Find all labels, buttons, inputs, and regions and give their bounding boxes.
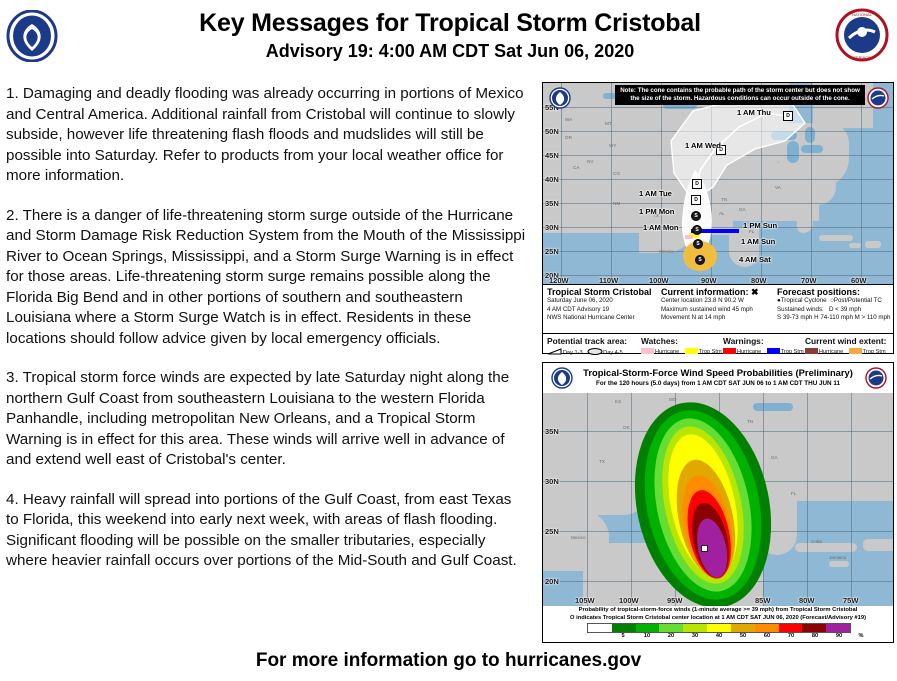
forecast-position-4am-sat: S	[695, 255, 705, 265]
warning-tropstm-label: Trop Stm	[781, 349, 804, 355]
colorbar-tick: 5	[621, 633, 624, 639]
footer-link-text[interactable]: For more information go to hurricanes.go…	[0, 650, 897, 672]
watch-hurricane-label: Hurricane	[655, 349, 679, 355]
current-info-heading: Current information: ✖	[661, 288, 779, 296]
key-message-4: 4. Heavy rainfall will spread into porti…	[6, 490, 526, 572]
svg-text:SERVICE: SERVICE	[853, 55, 871, 60]
cone-disclaimer-note: Note: The cone contains the probable pat…	[615, 85, 865, 105]
track-label-1am-mon: 1 AM Mon	[643, 223, 679, 232]
legend-tropical-cyclone: Tropical Cyclone	[781, 297, 827, 304]
colorbar-tick: 40	[716, 633, 722, 639]
colorbar-tick: 30	[692, 633, 698, 639]
colorbar-swatch-30	[683, 624, 707, 632]
forecast-position-1pm-mon: D	[691, 195, 701, 205]
probability-map[interactable]: 35N 30N 25N 20N 105W 100W 95W 90W 85W 80…	[543, 393, 893, 606]
track-label-1am-sun: 1 AM Sun	[741, 237, 775, 246]
track-label-1pm-sun: 1 PM Sun	[743, 221, 777, 230]
advisory-subtitle: Advisory 19: 4:00 AM CDT Sat Jun 06, 202…	[70, 39, 830, 63]
colorbar-tick: 50	[740, 633, 746, 639]
noaa-logo: NOAA	[6, 10, 58, 62]
wind-probability-panel[interactable]: Tropical-Storm-Force Wind Speed Probabil…	[542, 362, 894, 643]
colorbar-swatch-40	[707, 624, 731, 632]
prob-foot-line-2: O indicates Tropical Storm Cristobal cen…	[543, 615, 893, 623]
track-label-1am-tue: 1 AM Tue	[639, 189, 672, 198]
day13-label: Day 1-3	[563, 350, 583, 356]
wind-scale-row: S 39-73 mph H 74-110 mph M > 110 mph	[777, 314, 895, 322]
key-messages-list: 1. Damaging and deadly flooding was alre…	[6, 84, 526, 591]
colorbar-swatch-70	[779, 624, 803, 632]
potential-track-area-heading: Potential track area:	[547, 336, 627, 346]
forecast-position-1pm-sun: S	[692, 225, 702, 235]
warning-hurricane-swatch	[723, 348, 736, 354]
warnings-heading: Warnings:	[723, 336, 804, 346]
forecast-legend-row: ●Tropical Cyclone ○Post/Potential TC	[777, 297, 895, 305]
wind-extent-heading: Current wind extent:	[805, 336, 886, 346]
colorbar-swatch-20	[659, 624, 683, 632]
track-label-4am-sat: 4 AM Sat	[739, 255, 771, 264]
cone-info-block: Tropical Storm Cristobal Saturday June 0…	[543, 286, 893, 334]
probability-colorbar	[587, 623, 851, 633]
svg-text:NOAA: NOAA	[25, 19, 40, 25]
colorbar-swatch-5	[612, 624, 636, 632]
current-info-line: Movement N at 14 mph	[661, 314, 779, 322]
colorbar-swatch-60	[755, 624, 779, 632]
forecast-cone-panel[interactable]: 55N 50N 45N 40N 35N 30N 25N 20N 120W 110…	[542, 82, 894, 354]
nws-logo	[865, 367, 887, 389]
colorbar-swatch-90	[826, 624, 850, 632]
forecast-position-1am-tue: D	[692, 179, 702, 189]
cone-legend-strip: Potential track area: Day 1-3 Day 4-5 Wa…	[543, 335, 893, 353]
page-title: Key Messages for Tropical Storm Cristoba…	[70, 8, 830, 38]
current-info-line: Center location 23.8 N 90.2 W	[661, 297, 779, 305]
colorbar-unit: %	[859, 633, 864, 639]
storm-center-marker	[701, 545, 708, 552]
current-info-heading-text: Current information:	[661, 287, 749, 297]
storm-surge-watch-band	[685, 235, 693, 239]
key-message-1: 1. Damaging and deadly flooding was alre…	[6, 84, 526, 187]
track-label-1am-thu: 1 AM Thu	[737, 108, 771, 117]
colorbar-ticks: 5 10 20 30 40 50 60 70 80 90 %	[587, 633, 851, 642]
extent-tropstm-swatch	[849, 348, 862, 354]
warning-hurricane-label: Hurricane	[737, 349, 761, 355]
extent-hurricane-label: Hurricane	[819, 349, 843, 355]
warnings-legend: Warnings: Hurricane Trop Stm	[723, 336, 804, 355]
legend-post-tc: Post/Potential TC	[834, 297, 882, 304]
colorbar-swatch-80	[802, 624, 826, 632]
page-header: NOAA NATIONAL SERVICE Key Messages for T…	[0, 0, 897, 72]
track-label-1pm-mon: 1 PM Mon	[639, 207, 674, 216]
current-info-column: Current information: ✖ Center location 2…	[661, 288, 779, 323]
watch-hurricane-swatch	[641, 348, 654, 354]
forecast-positions-heading: Forecast positions:	[777, 288, 895, 296]
watch-tropstm-swatch	[685, 348, 698, 354]
day45-cone-icon	[587, 348, 603, 355]
colorbar-tick: 20	[668, 633, 674, 639]
colorbar-tick: 80	[812, 633, 818, 639]
prob-subtitle: For the 120 hours (5.0 days) from 1 AM C…	[543, 380, 893, 387]
nws-logo: NATIONAL SERVICE	[835, 8, 889, 62]
colorbar-swatch-50	[731, 624, 755, 632]
extent-tropstm-label: Trop Stm	[863, 349, 886, 355]
warning-tropstm-swatch	[767, 348, 780, 354]
probability-contours	[543, 393, 893, 606]
watch-tropstm-label: Trop Stm	[699, 349, 722, 355]
extent-hurricane-swatch	[805, 348, 818, 354]
forecast-position-1am-mon: S	[691, 211, 701, 221]
day45-label: Day 4-5	[603, 350, 623, 356]
current-info-line: Maximum sustained wind 45 mph	[661, 306, 779, 314]
nws-logo	[867, 87, 889, 109]
wind-extent-legend: Current wind extent: Hurricane Trop Stm	[805, 336, 886, 355]
colorbar-tick: 70	[788, 633, 794, 639]
depression-threshold: D < 39 mph	[829, 306, 861, 313]
sustained-winds-label: Sustained winds:	[777, 306, 824, 313]
forecast-cone	[543, 83, 893, 285]
sustained-winds-row: Sustained winds: D < 39 mph	[777, 306, 895, 314]
watches-heading: Watches:	[641, 336, 722, 346]
colorbar-tick: 90	[836, 633, 842, 639]
watches-legend: Watches: Hurricane Trop Stm	[641, 336, 722, 355]
prob-title: Tropical-Storm-Force Wind Speed Probabil…	[543, 367, 893, 378]
key-message-2: 2. There is a danger of life-threatening…	[6, 206, 526, 350]
current-position-icon: ✖	[751, 287, 759, 297]
prob-footnotes: Probability of tropical-storm-force wind…	[543, 607, 893, 622]
colorbar-swatch-10	[636, 624, 660, 632]
forecast-positions-column: Forecast positions: ●Tropical Cyclone ○P…	[777, 288, 895, 323]
noaa-logo	[551, 367, 573, 389]
forecast-position-1am-sun: S	[693, 239, 703, 249]
track-label-1am-wed: 1 AM Wed	[685, 141, 721, 150]
cone-map[interactable]: 55N 50N 45N 40N 35N 30N 25N 20N 120W 110…	[543, 83, 893, 285]
potential-track-area-legend: Potential track area: Day 1-3 Day 4-5	[547, 336, 627, 356]
colorbar-swatch-0	[588, 624, 612, 632]
noaa-logo	[549, 87, 571, 109]
svg-text:NATIONAL: NATIONAL	[852, 12, 872, 17]
key-message-3: 3. Tropical storm force winds are expect…	[6, 368, 526, 471]
colorbar-tick: 60	[764, 633, 770, 639]
prob-foot-line-1: Probability of tropical-storm-force wind…	[543, 607, 893, 615]
colorbar-tick: 10	[644, 633, 650, 639]
title-block: Key Messages for Tropical Storm Cristoba…	[70, 8, 830, 63]
day13-cone-icon	[547, 348, 563, 355]
prob-header: Tropical-Storm-Force Wind Speed Probabil…	[543, 363, 893, 393]
forecast-position-1am-thu: D	[783, 111, 793, 121]
